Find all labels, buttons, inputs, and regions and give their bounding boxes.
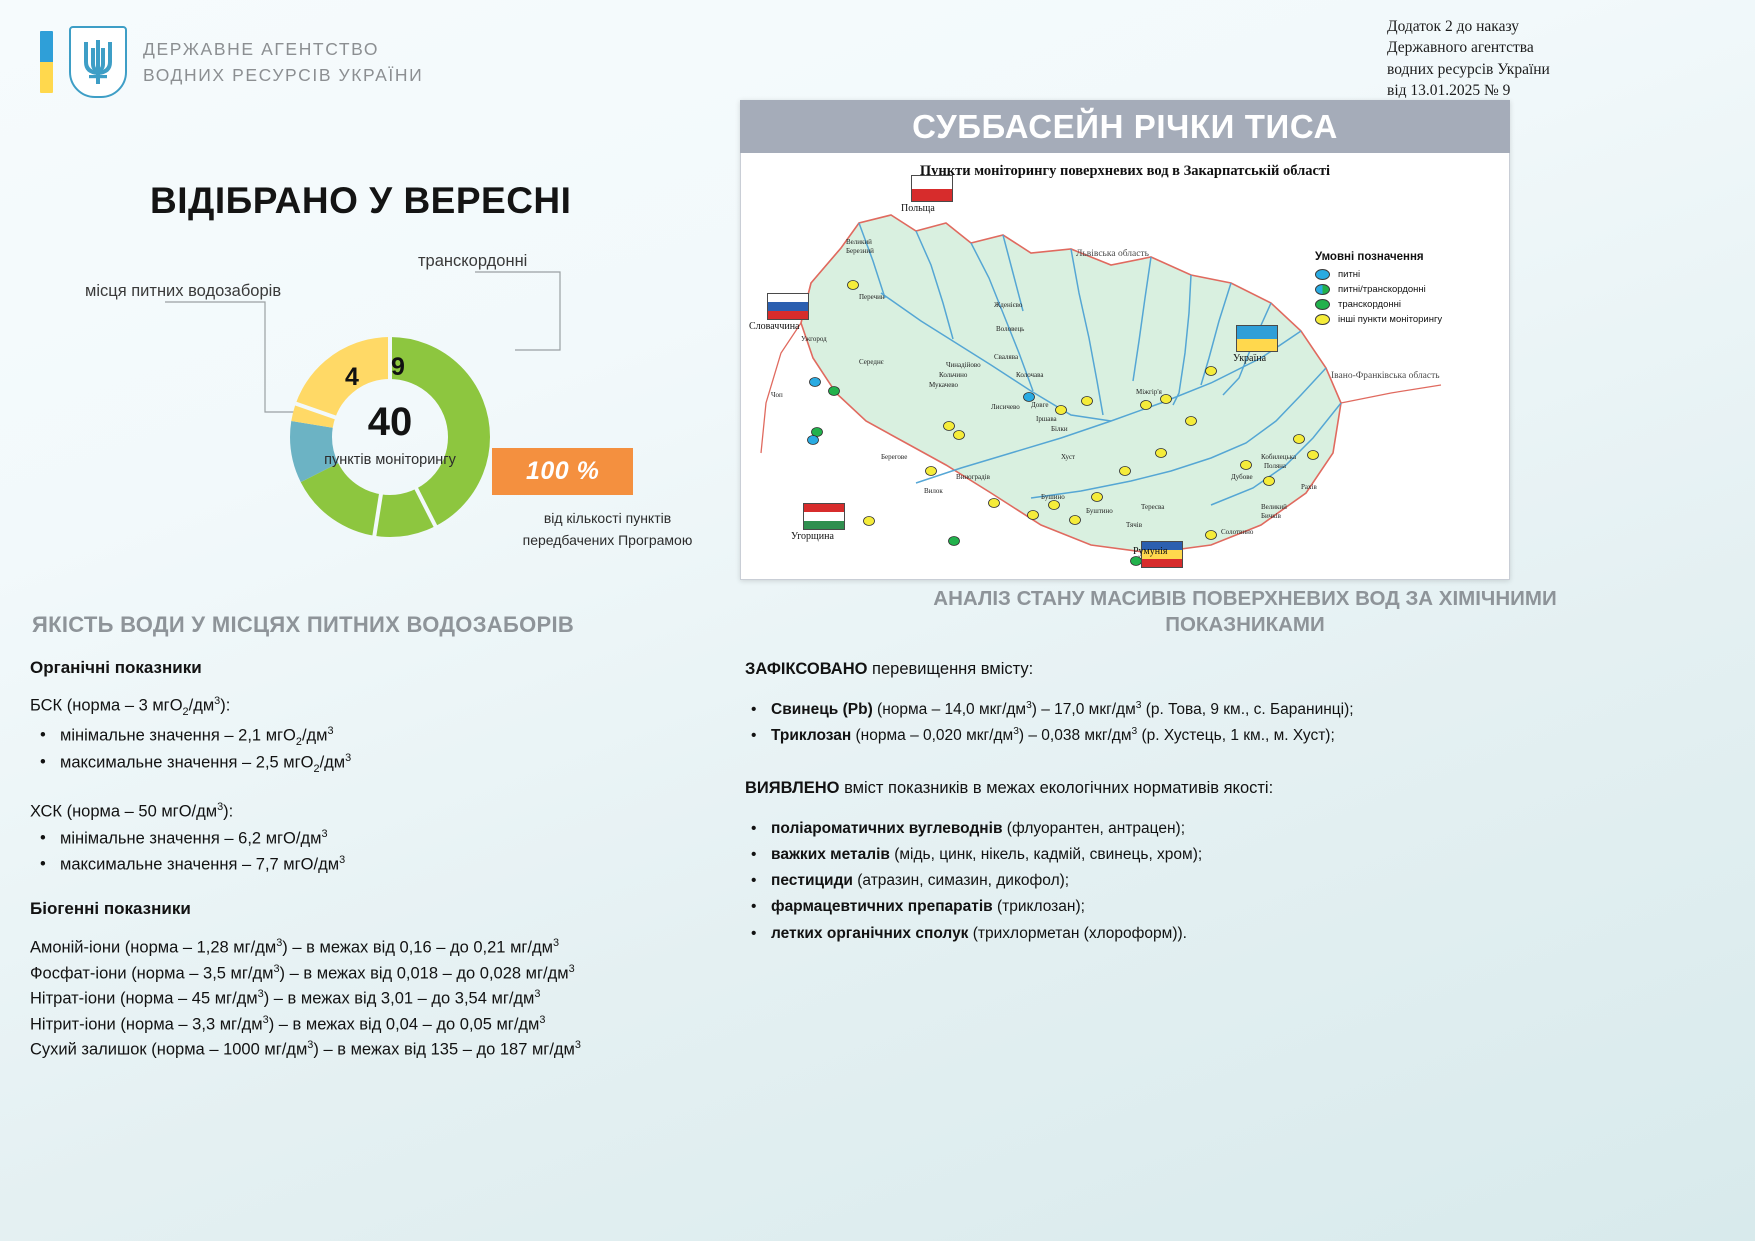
within-norms-heading: ВИЯВЛЕНО вміст показників в межах еколог… [745,779,1745,798]
ukraine-flag-bar-icon [40,31,53,93]
region-caption-ivano-frankivsk: Івано-Франківська область [1331,371,1440,381]
trident-emblem-icon [69,26,127,98]
city-caption: Чоп [771,391,783,399]
city-caption: Лисичево [991,403,1020,411]
bsk-values-list: мінімальне значення – 2,1 мгО2/дм3 макси… [30,723,730,777]
legend-label-drinking-transboundary: питні/транскордонні [1338,284,1426,295]
city-caption: Виноградів [956,473,990,481]
organic-indicators-title: Органічні показники [30,658,730,678]
biogenic-indicators-title: Біогенні показники [30,899,730,919]
flag-caption-poland: Польща [901,203,935,214]
bsk-header: БСК (норма – 3 мгО2/дм3): [30,694,730,720]
legend-dot-drinking-icon [1315,269,1330,280]
city-caption: Великий [846,238,872,246]
city-caption: Колочава [1016,371,1044,379]
chemical-analysis-body: ЗАФІКСОВАНО перевищення вмісту: Свинець … [745,660,1745,977]
within-heavy-metals: важких металів (мідь, цинк, нікель, кадм… [745,842,1745,868]
city-caption: Тересва [1141,503,1164,511]
legend-item-other: інші пункти моніторингу [1315,314,1495,325]
label-drinking-intakes: місця питних водозаборів [85,282,281,301]
decree-reference: Додаток 2 до наказу Державного агентства… [1387,16,1737,102]
exceedance-lead: Свинець (Pb) (норма – 14,0 мкг/дм3) – 17… [745,697,1745,723]
water-quality-section-title: ЯКІСТЬ ВОДИ У МІСЦЯХ ПИТНИХ ВОДОЗАБОРІВ [32,612,574,638]
nutrient-nitrate: Нітрат-іони (норма – 45 мг/дм3) – в межа… [30,986,730,1012]
city-caption: Поляна [1264,462,1286,470]
exceedance-triclosan: Триклозан (норма – 0,020 мкг/дм3) – 0,03… [745,723,1745,749]
city-caption: Кобилецька [1261,453,1296,461]
flag-caption-hungary: Угорщина [791,531,834,542]
city-caption: Хуст [1061,453,1075,461]
chemical-analysis-section-title: АНАЛІЗ СТАНУ МАСИВІВ ПОВЕРХНЕВИХ ВОД ЗА … [745,586,1745,638]
city-caption: Тячів [1126,521,1142,529]
city-caption: Бичків [1261,512,1281,520]
map-legend: Умовні позначення питні питні/транскордо… [1315,251,1495,329]
donut-chart: 4 9 [275,322,505,552]
label-transboundary: транскордонні [418,252,527,271]
nutrient-phosphate: Фосфат-іони (норма – 3,5 мг/дм3) – в меж… [30,961,730,987]
flag-slovakia-icon [767,293,809,320]
within-voc: летких органічних сполук (трихлорметан (… [745,921,1745,947]
city-caption: Солотвино [1221,528,1253,536]
bsk-min: мінімальне значення – 2,1 мгО2/дм3 [30,723,730,750]
city-caption: Кольчино [939,371,967,379]
legend-item-drinking: питні [1315,269,1495,280]
city-caption: Берегове [881,453,907,461]
bsk-max: максимальне значення – 2,5 мгО2/дм3 [30,750,730,777]
hsk-min: мінімальне значення – 6,2 мгО/дм3 [30,826,730,851]
map-card: СУББАСЕЙН РІЧКИ ТИСА Пункти моніторингу … [740,100,1510,580]
map-banner-title: СУББАСЕЙН РІЧКИ ТИСА [912,108,1338,146]
city-caption: Чинадійово [946,361,981,369]
water-quality-body: Органічні показники БСК (норма – 3 мгО2/… [30,658,730,1063]
nutrient-ammonium: Амоній-іони (норма – 1,28 мг/дм3) – в ме… [30,935,730,961]
city-caption: Буштино [1086,507,1113,515]
city-caption: Міжгір'я [1136,388,1162,396]
city-caption: Перечин [859,293,885,301]
city-caption: Дубове [1231,473,1253,481]
city-caption: Мукачево [929,381,958,389]
city-caption: Білки [1051,425,1068,433]
legend-label-drinking: питні [1338,269,1360,280]
legend-item-transboundary: транскордонні [1315,299,1495,310]
agency-logo: ДЕРЖАВНЕ АГЕНТСТВО ВОДНИХ РЕСУРСІВ УКРАЇ… [40,26,423,98]
map-graphic [741,153,1509,578]
flag-poland-icon [911,175,953,202]
city-caption: Бушино [1041,493,1065,501]
legend-item-drinking-transboundary: питні/транскордонні [1315,284,1495,295]
region-caption-lviv: Львівська область [1076,249,1149,259]
city-caption: Вилок [924,487,943,495]
within-pharmaceuticals: фармацевтичних препаратів (триклозан); [745,894,1745,920]
flag-caption-romania: Румунія [1133,546,1168,557]
slice-value-transboundary: 9 [391,353,405,381]
flag-caption-slovakia: Словаччина [749,321,800,332]
exceedance-heading: ЗАФІКСОВАНО перевищення вмісту: [745,660,1745,679]
city-caption: Жденієво [994,301,1022,309]
exceedance-list: Свинець (Pb) (норма – 14,0 мкг/дм3) – 17… [745,697,1745,749]
legend-label-transboundary: транскордонні [1338,299,1401,310]
city-caption: Середнє [859,358,884,366]
legend-dot-drinking-transboundary-icon [1315,284,1330,295]
sampled-title: ВІДІБРАНО У ВЕРЕСНІ [150,180,571,222]
agency-title: ДЕРЖАВНЕ АГЕНТСТВО ВОДНИХ РЕСУРСІВ УКРАЇ… [143,36,423,89]
nutrient-dry-residue: Сухий залишок (норма – 1000 мг/дм3) – в … [30,1037,730,1063]
legend-dot-transboundary-icon [1315,299,1330,310]
city-caption: Довге [1031,401,1048,409]
city-caption: Великий [1261,503,1287,511]
within-norms-list: поліароматичних вуглеводнів (флуорантен,… [745,816,1745,946]
hsk-values-list: мінімальне значення – 6,2 мгО/дм3 максим… [30,826,730,877]
city-caption: Свалява [994,353,1018,361]
nutrient-nitrite: Нітрит-іони (норма – 3,3 мг/дм3) – в меж… [30,1012,730,1038]
legend-title: Умовні позначення [1315,251,1495,263]
city-caption: Воловець [996,325,1024,333]
flag-caption-ukraine: Україна [1233,353,1266,364]
legend-label-other: інші пункти моніторингу [1338,314,1442,325]
legend-dot-other-icon [1315,314,1330,325]
map-body: Пункти моніторингу поверхневих вод в Зак… [740,153,1510,580]
flag-hungary-icon [803,503,845,530]
percent-badge: 100 % [492,448,633,495]
within-pah: поліароматичних вуглеводнів (флуорантен,… [745,816,1745,842]
city-caption: Рахів [1301,483,1317,491]
city-caption: Ужгород [801,335,827,343]
hsk-header: ХСК (норма – 50 мгО/дм3): [30,800,730,824]
percent-caption: від кількості пунктів передбачених Прогр… [500,508,715,551]
map-banner: СУББАСЕЙН РІЧКИ ТИСА [740,100,1510,153]
hsk-max: максимальне значення – 7,7 мгО/дм3 [30,852,730,877]
within-pesticides: пестициди (атразин, симазин, дикофол); [745,868,1745,894]
city-caption: Березний [846,247,874,255]
city-caption: Іршава [1036,415,1057,423]
flag-ukraine-icon [1236,325,1278,352]
slice-value-drinking: 4 [345,363,359,391]
